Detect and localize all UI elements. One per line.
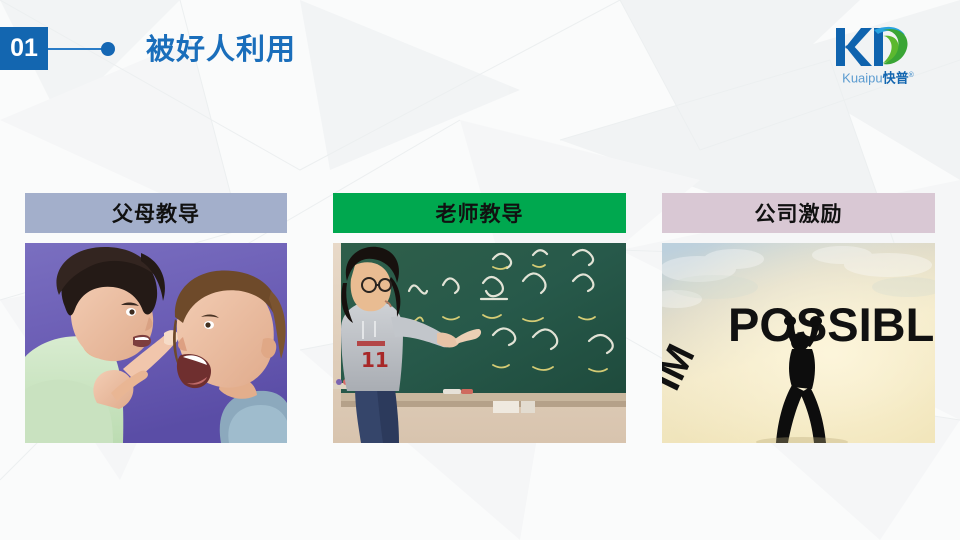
impossible-to-possible-photo: POSSIBLE IM bbox=[662, 243, 935, 443]
card-company-header: 公司激励 bbox=[662, 193, 935, 233]
card-company[interactable]: 公司激励 bbox=[662, 193, 935, 443]
mother-scolding-boy-photo bbox=[25, 243, 287, 443]
card-parents[interactable]: 父母教导 bbox=[25, 193, 287, 443]
svg-text:11: 11 bbox=[361, 348, 389, 372]
card-company-title: 公司激励 bbox=[755, 198, 843, 228]
logo-wordmark: Kuaipu快普® bbox=[822, 68, 934, 86]
slide-title: 被好人利用 bbox=[146, 26, 296, 68]
section-number-badge: 01 bbox=[0, 27, 48, 70]
card-parents-header: 父母教导 bbox=[25, 193, 287, 233]
title-connector-line bbox=[48, 48, 105, 50]
teacher-at-chalkboard-photo: 11 bbox=[333, 243, 626, 443]
card-teacher[interactable]: 老师教导 bbox=[333, 193, 626, 443]
card-parents-title: 父母教导 bbox=[112, 198, 200, 228]
kuaipu-kp-logo-icon bbox=[834, 24, 910, 68]
company-logo: Kuaipu快普® bbox=[822, 24, 934, 86]
logo-text-cn: 快普 bbox=[883, 70, 909, 85]
section-number-text: 01 bbox=[10, 36, 38, 61]
registered-trademark-mark: ® bbox=[909, 72, 914, 79]
title-connector-dot bbox=[101, 42, 115, 56]
logo-text-en: Kuaipu bbox=[842, 70, 882, 85]
card-teacher-title: 老师教导 bbox=[436, 198, 524, 228]
possible-word: POSSIBLE bbox=[728, 298, 935, 351]
card-teacher-header: 老师教导 bbox=[333, 193, 626, 233]
